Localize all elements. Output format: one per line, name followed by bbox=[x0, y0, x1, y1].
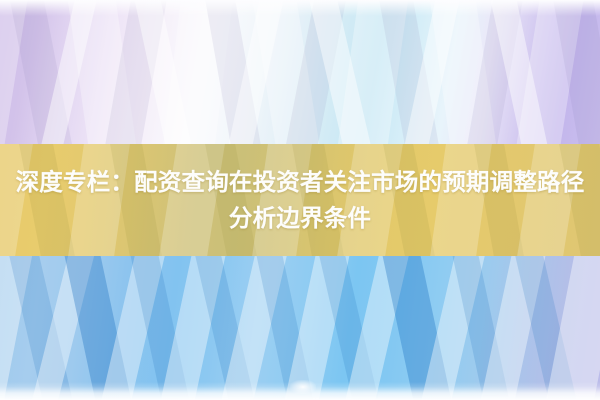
facet-shard bbox=[28, 256, 97, 400]
banner-title: 深度专栏：配资查询在投资者关注市场的预期调整路径分析边界条件 bbox=[8, 164, 592, 236]
facet-shard bbox=[551, 0, 600, 144]
facet-shard bbox=[6, 256, 76, 400]
facet-shard bbox=[488, 0, 551, 144]
facet-shard bbox=[402, 0, 463, 144]
facet-shard bbox=[203, 0, 263, 144]
facet-shard bbox=[418, 256, 488, 400]
facet-shard bbox=[132, 0, 195, 144]
facet-shard bbox=[0, 256, 35, 400]
facet-shard bbox=[543, 256, 600, 400]
facet-shard bbox=[282, 256, 353, 400]
facet-shard bbox=[226, 0, 287, 144]
facet-shard bbox=[250, 0, 321, 144]
facet-shard bbox=[218, 256, 290, 400]
facet-shard bbox=[158, 256, 229, 400]
facet-shard bbox=[128, 256, 193, 400]
facet-shard bbox=[512, 256, 580, 400]
facet-shard bbox=[306, 0, 374, 144]
facet-shard bbox=[465, 0, 525, 144]
facet-shard bbox=[103, 0, 169, 144]
facet-shard bbox=[98, 256, 168, 400]
facet-shard bbox=[514, 0, 585, 144]
facet-shard bbox=[316, 256, 382, 400]
bottom-edge-haze bbox=[0, 382, 600, 400]
article-banner: 深度专栏：配资查询在投资者关注市场的预期调整路径分析边界条件 bbox=[0, 0, 600, 400]
facet-shard bbox=[377, 0, 441, 144]
facet-shard bbox=[161, 0, 234, 144]
facet-shard bbox=[192, 256, 258, 400]
facet-shard bbox=[7, 0, 75, 144]
facet-shard bbox=[450, 256, 513, 400]
facet-shard bbox=[62, 256, 135, 400]
facet-shard bbox=[0, 0, 30, 144]
facet-shard bbox=[254, 256, 317, 400]
facet-shard bbox=[336, 0, 410, 144]
facet-shard bbox=[380, 256, 455, 400]
facet-shard bbox=[478, 256, 549, 400]
blue-gradient-band bbox=[0, 256, 600, 400]
top-gradient-band bbox=[0, 0, 600, 144]
top-edge-haze bbox=[0, 0, 600, 16]
facet-shard bbox=[428, 0, 498, 144]
banner-title-area: 深度专栏：配资查询在投资者关注市场的预期调整路径分析边界条件 bbox=[0, 144, 600, 256]
facet-shard bbox=[342, 256, 412, 400]
facet-shard bbox=[38, 0, 100, 144]
facet-shard bbox=[66, 0, 138, 144]
facet-shard bbox=[283, 0, 349, 144]
